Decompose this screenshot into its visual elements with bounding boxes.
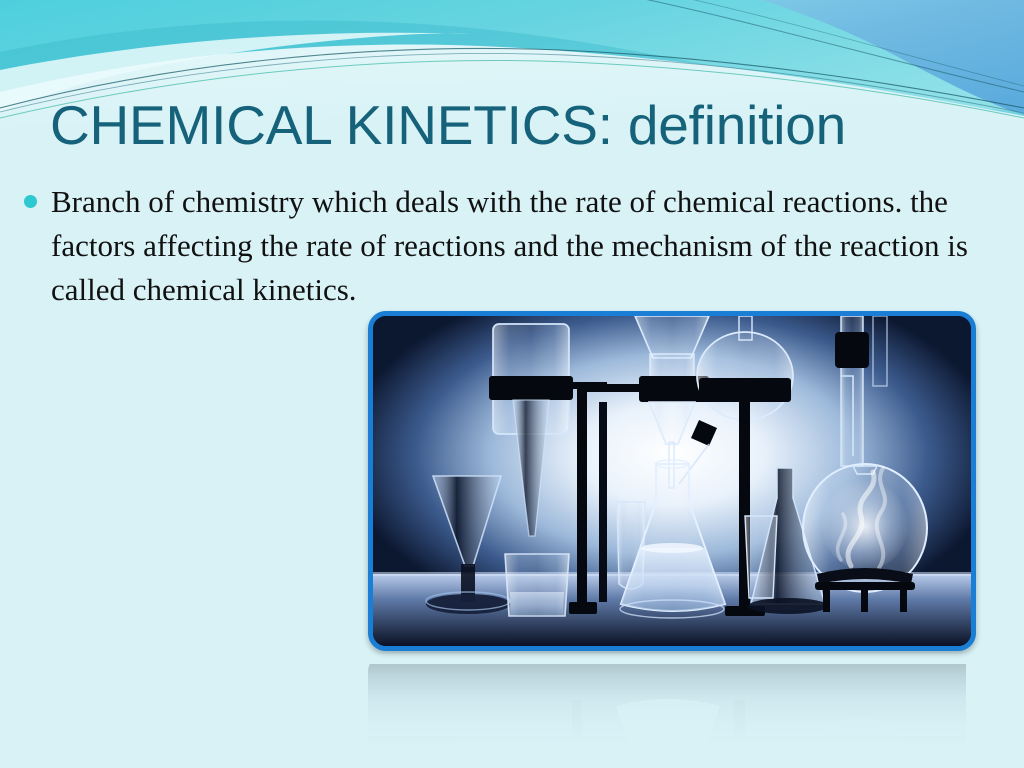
body-content: Branch of chemistry which deals with the…	[24, 180, 999, 312]
bullet-dot-icon	[24, 195, 37, 208]
reflection-fade-overlay	[368, 654, 976, 754]
lab-scene-illustration	[373, 316, 971, 646]
bullet-list-item: Branch of chemistry which deals with the…	[24, 180, 999, 312]
lab-scene-reflection	[368, 664, 966, 754]
bullet-text: Branch of chemistry which deals with the…	[51, 180, 999, 312]
lab-glassware-photo[interactable]	[368, 311, 976, 651]
slide: CHEMICAL KINETICS: definition Branch of …	[0, 0, 1024, 768]
lab-photo-container[interactable]	[368, 311, 976, 651]
slide-title: CHEMICAL KINETICS: definition	[50, 92, 980, 162]
beaker-icon	[505, 554, 569, 616]
lab-photo-reflection	[368, 654, 976, 754]
small-beaker-right-icon	[745, 516, 777, 598]
